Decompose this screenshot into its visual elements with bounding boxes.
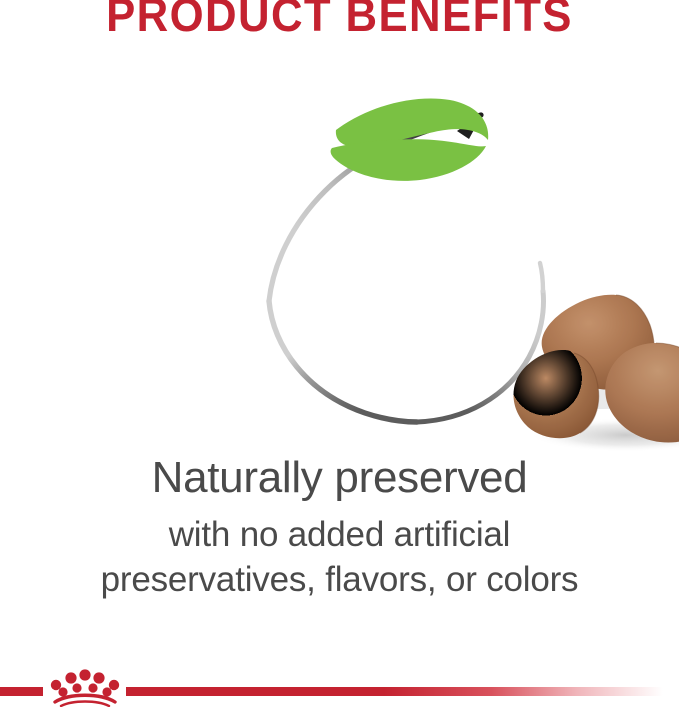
leaf-icon [310,96,500,182]
kibble-piece-left [513,350,598,438]
page-header: PRODUCT BENEFITS [0,0,679,46]
footer-brand-bar [0,660,679,707]
benefit-headline: Naturally preserved [0,452,679,504]
red-rule-right-fade [126,687,663,696]
benefit-copy: Naturally preserved with no added artifi… [0,452,679,602]
page-title: PRODUCT BENEFITS [24,0,655,38]
red-rule-left [0,687,43,696]
kibble-pieces [508,287,679,455]
benefit-subline-1: with no added artificial [0,513,679,557]
benefit-subline-2: preservatives, flavors, or colors [0,558,679,602]
royal-canin-crown-icon [47,662,123,707]
